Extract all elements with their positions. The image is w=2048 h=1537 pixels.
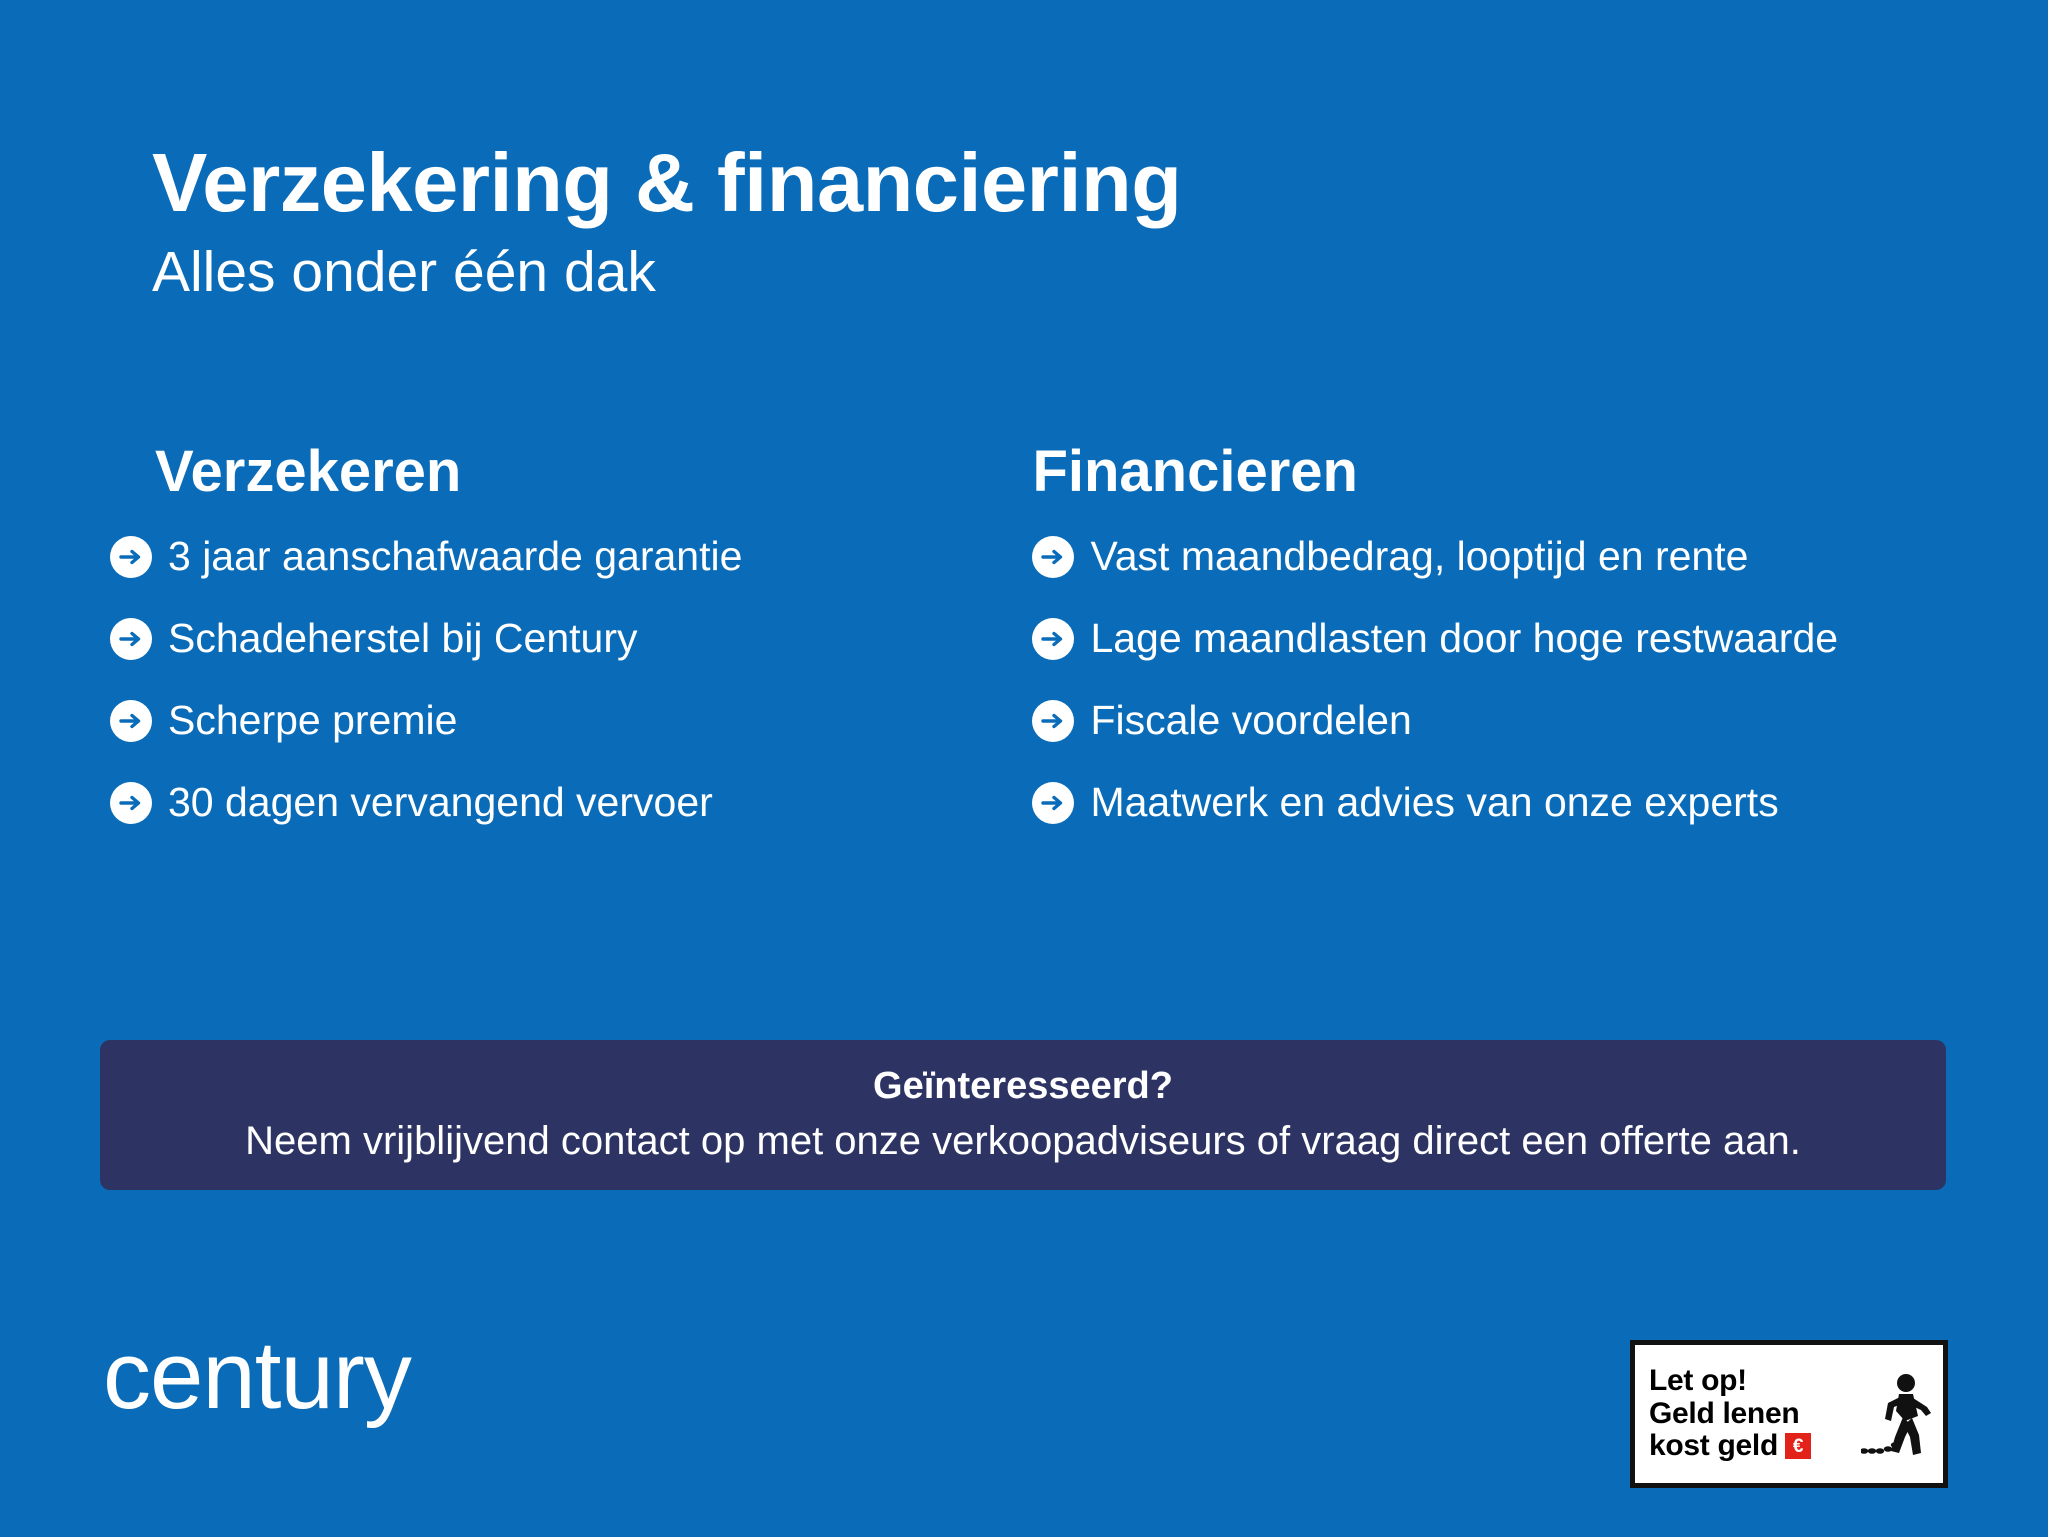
page-title: Verzekering & financiering	[152, 140, 1852, 226]
euro-chip-icon: €	[1785, 1433, 1811, 1459]
list-item: Vast maandbedrag, looptijd en rente	[1032, 532, 1970, 582]
list-item-label: Maatwerk en advies van onze experts	[1090, 778, 1778, 827]
column-heading-verzekeren: Verzekeren	[155, 440, 1014, 504]
cta-title: Geïnteresseerd?	[873, 1066, 1173, 1108]
warning-line-3: kost geld	[1649, 1430, 1778, 1462]
list-item: Lage maandlasten door hoge restwaarde	[1032, 614, 1970, 664]
column-verzekeren: Verzekeren 3 jaar aanschafwaarde garanti…	[110, 440, 1014, 860]
arrow-right-circle-icon	[1032, 536, 1074, 578]
arrow-right-circle-icon	[110, 782, 152, 824]
arrow-right-circle-icon	[110, 536, 152, 578]
feature-columns: Verzekeren 3 jaar aanschafwaarde garanti…	[110, 440, 1970, 860]
list-item-label: 30 dagen vervangend vervoer	[168, 778, 713, 827]
bullet-list-financieren: Vast maandbedrag, looptijd en rente Lage…	[1032, 532, 1970, 860]
walking-person-with-ball-and-chain-icon	[1861, 1371, 1933, 1463]
list-item-label: Lage maandlasten door hoge restwaarde	[1090, 614, 1838, 663]
list-item-label: Schadeherstel bij Century	[168, 614, 637, 663]
arrow-right-circle-icon	[110, 700, 152, 742]
list-item: Schadeherstel bij Century	[110, 614, 1014, 664]
column-heading-financieren: Financieren	[1032, 440, 1970, 504]
century-logo: century	[103, 1328, 411, 1424]
arrow-right-circle-icon	[1032, 782, 1074, 824]
page-subtitle: Alles onder één dak	[152, 240, 1852, 306]
list-item: 3 jaar aanschafwaarde garantie	[110, 532, 1014, 582]
list-item-label: Fiscale voordelen	[1090, 696, 1411, 745]
list-item: Fiscale voordelen	[1032, 696, 1970, 746]
list-item-label: Vast maandbedrag, looptijd en rente	[1090, 532, 1748, 581]
bullet-list-verzekeren: 3 jaar aanschafwaarde garantie Schadeher…	[155, 532, 1014, 860]
cta-text: Neem vrijblijvend contact op met onze ve…	[245, 1118, 1801, 1164]
list-item: Maatwerk en advies van onze experts	[1032, 778, 1970, 828]
slide-root: Verzekering & financiering Alles onder é…	[0, 0, 2048, 1537]
list-item: Scherpe premie	[110, 696, 1014, 746]
arrow-right-circle-icon	[1032, 700, 1074, 742]
arrow-right-circle-icon	[1032, 618, 1074, 660]
column-financieren: Financieren Vast maandbedrag, looptijd e…	[1014, 440, 1970, 860]
list-item: 30 dagen vervangend vervoer	[110, 778, 1014, 828]
credit-warning-box: Let op! Geld lenen kost geld €	[1630, 1340, 1948, 1488]
list-item-label: Scherpe premie	[168, 696, 457, 745]
list-item-label: 3 jaar aanschafwaarde garantie	[168, 532, 742, 581]
arrow-right-circle-icon	[110, 618, 152, 660]
header: Verzekering & financiering Alles onder é…	[152, 140, 1852, 306]
cta-banner: Geïnteresseerd? Neem vrijblijvend contac…	[100, 1040, 1946, 1190]
